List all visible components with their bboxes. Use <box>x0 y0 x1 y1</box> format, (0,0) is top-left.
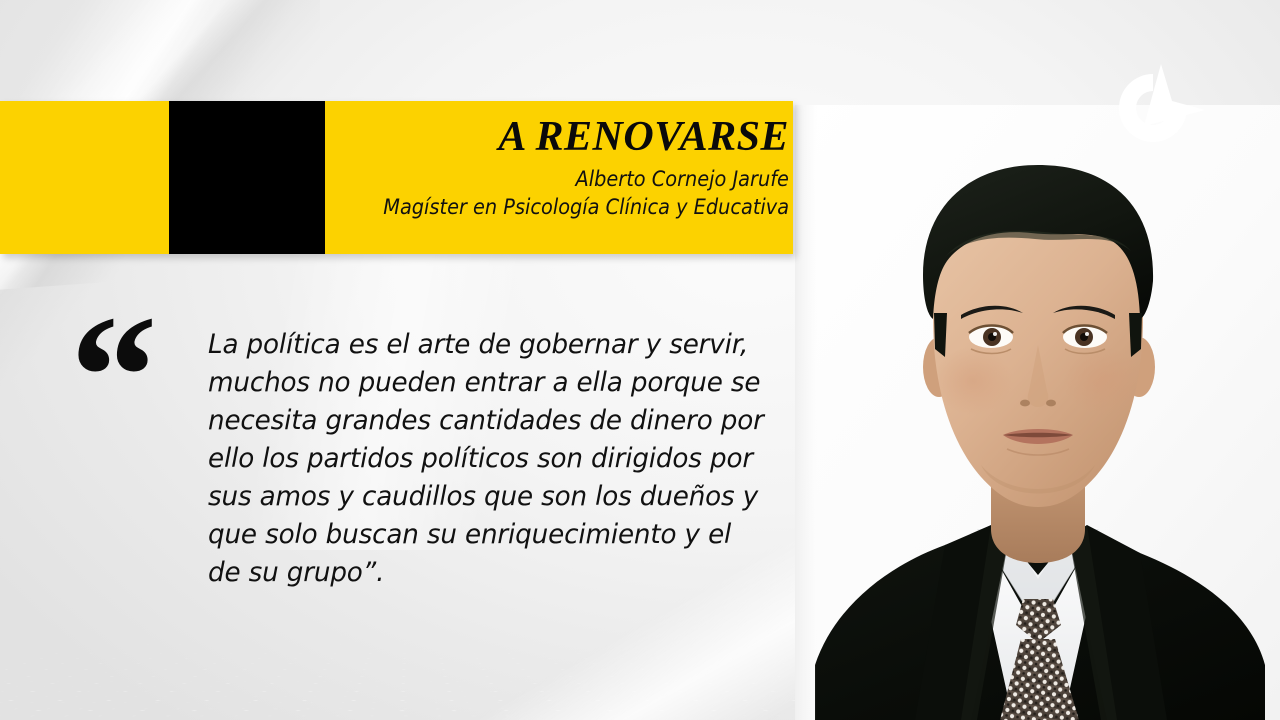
quote-line: ello los partidos políticos son dirigido… <box>208 440 766 478</box>
slide-canvas: A RENOVARSE Alberto Cornejo Jarufe Magís… <box>0 0 1280 720</box>
quote-mark-icon: “ <box>70 289 158 464</box>
quote-line: muchos no pueden entrar a ella porque se <box>208 364 766 402</box>
quote-line: sus amos y caudillos que son los dueños … <box>208 478 766 516</box>
page-title: A RENOVARSE <box>498 114 789 160</box>
quote-line: necesita grandes cantidades de dinero po… <box>208 402 766 440</box>
author-portrait <box>795 105 1280 720</box>
header-black-block <box>169 101 325 254</box>
quote-line: que solo buscan su enriquecimiento y el <box>208 516 766 554</box>
quote-line: La política es el arte de gobernar y ser… <box>208 326 766 364</box>
quote-text: La política es el arte de gobernar y ser… <box>208 326 766 592</box>
header-text-group: A RENOVARSE Alberto Cornejo Jarufe Magís… <box>332 101 793 254</box>
author-credential: Magíster en Psicología Clínica y Educati… <box>383 193 789 221</box>
logo-dart-icon <box>1144 64 1205 126</box>
brand-logo[interactable] <box>1104 58 1208 158</box>
author-name: Alberto Cornejo Jarufe <box>576 165 789 193</box>
quote-line: de su grupo”. <box>208 554 766 592</box>
